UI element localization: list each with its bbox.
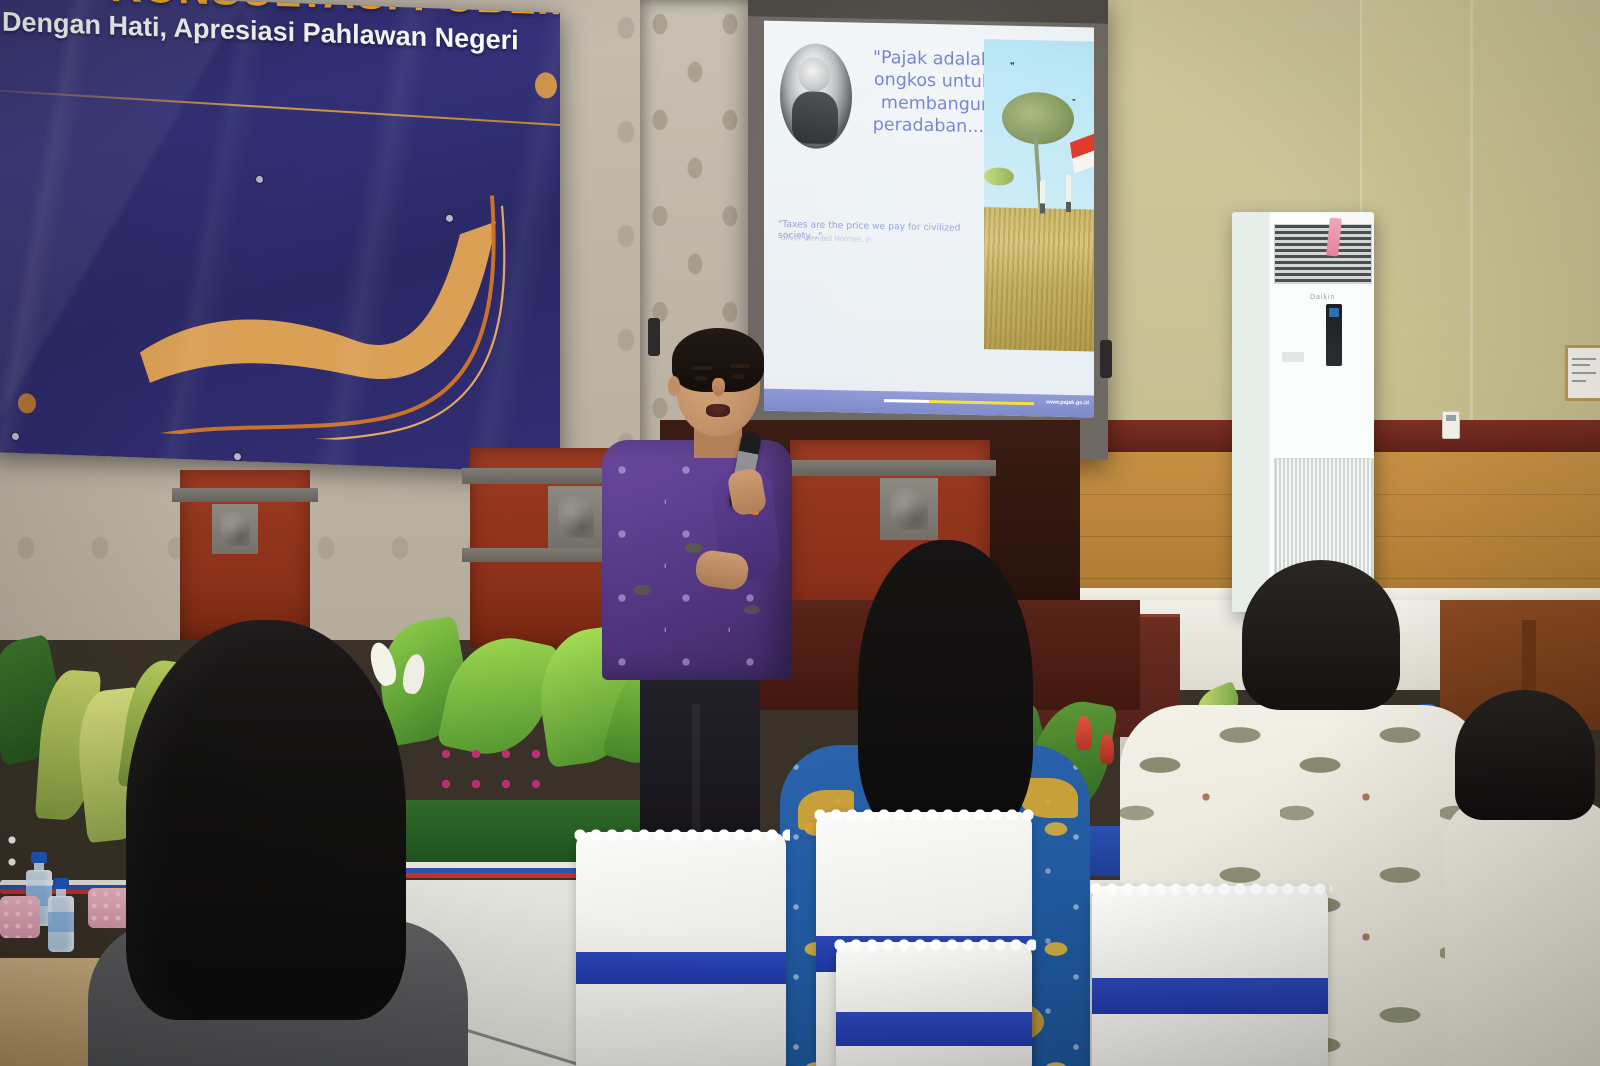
- covered-chair[interactable]: [1092, 886, 1328, 1066]
- ac-remote-icon[interactable]: [1442, 411, 1460, 439]
- pillar-carving: [548, 486, 604, 548]
- audience-long-hair: [126, 620, 406, 1020]
- small-bush: [984, 167, 1014, 186]
- pillar-cap: [784, 460, 996, 476]
- speaker-nose: [712, 378, 725, 396]
- banner-grommet: [12, 433, 19, 440]
- wall-seam: [1470, 0, 1473, 420]
- audience-hair: [1242, 560, 1400, 710]
- pink-snack-wrap: [0, 896, 40, 938]
- banner-grommet: [234, 453, 241, 460]
- presentation-slide: "Pajak adalah ongkos untuk membangun per…: [764, 21, 1094, 418]
- chair-blue-sash: [576, 952, 786, 984]
- event-banner: KONSULTASI PUBLIK Dengan Hati, Apresiasi…: [0, 0, 560, 473]
- chair-blue-sash: [836, 1012, 1032, 1046]
- ac-sticker-label: [1282, 352, 1304, 362]
- covered-chair[interactable]: [836, 942, 1032, 1066]
- chair-cover-ruffle: [812, 807, 1036, 821]
- chair-cover-ruffle: [1088, 881, 1332, 895]
- screen-roller-left: [648, 318, 660, 356]
- ac-top-grille: [1274, 224, 1372, 284]
- chair-cover-ruffle: [572, 827, 790, 841]
- person-figure: [1066, 175, 1071, 203]
- bird-icon: ❞: [1072, 99, 1076, 106]
- bird-icon: ❞: [1010, 62, 1015, 71]
- speaker-eye: [694, 376, 707, 381]
- hall-wall-right-panel: [1360, 0, 1600, 430]
- cliff-ground: [984, 207, 1094, 351]
- slide-footer-website: www.pajak.go.id: [1046, 399, 1089, 406]
- speaker-ear: [668, 376, 680, 396]
- pillar-carving: [212, 504, 258, 554]
- indonesian-flag-icon: [1070, 133, 1094, 173]
- event-photo-scene: KONSULTASI PUBLIK Dengan Hati, Apresiasi…: [0, 0, 1600, 1066]
- projection-screen: "Pajak adalah ongkos untuk membangun per…: [748, 0, 1108, 460]
- air-conditioner-unit: Daikin: [1232, 212, 1374, 612]
- audience-hair: [1455, 690, 1595, 820]
- speaker-eyebrow: [692, 366, 712, 370]
- portrait-photo-icon: [780, 43, 852, 150]
- speaker-mouth: [706, 404, 730, 417]
- covered-chair[interactable]: [576, 832, 786, 1066]
- chair-blue-sash: [1092, 978, 1328, 1014]
- pillar-cap: [172, 488, 318, 502]
- ac-brand-label: Daikin: [1310, 294, 1335, 301]
- screen-roller-right: [1100, 340, 1112, 378]
- audience-member-far-right: [1455, 690, 1600, 1066]
- framed-notice: [1565, 345, 1600, 401]
- banner-grommet: [446, 215, 453, 222]
- banner-dot-accent-2: [18, 393, 36, 414]
- slide-landscape-photo: ❞ ❞: [984, 39, 1094, 351]
- tree-crown: [1002, 92, 1074, 146]
- audience-member-foreground-left: [108, 620, 438, 1066]
- banner-dot-accent: [535, 72, 557, 99]
- ac-display-panel[interactable]: [1326, 304, 1342, 366]
- slide-footer-underline: [884, 399, 1034, 405]
- audience-shirt: [1445, 800, 1600, 1066]
- pillar-carving: [880, 478, 938, 540]
- slide-footer-bar: www.pajak.go.id: [764, 389, 1094, 418]
- speaker-eyebrow: [730, 364, 750, 368]
- water-bottle[interactable]: [48, 878, 74, 952]
- screen-top-bar: [748, 0, 1108, 24]
- person-figure: [1040, 180, 1045, 204]
- banner-grommet: [256, 176, 263, 183]
- speaker-eye: [732, 374, 745, 379]
- audience-hair: [858, 540, 1033, 840]
- banner-gold-rule: [0, 89, 560, 130]
- banner-swirl-graphic: [140, 183, 560, 449]
- slide-quote-indonesian: "Pajak adalah ongkos untuk membangun per…: [864, 47, 992, 139]
- chair-cover-ruffle: [832, 937, 1036, 951]
